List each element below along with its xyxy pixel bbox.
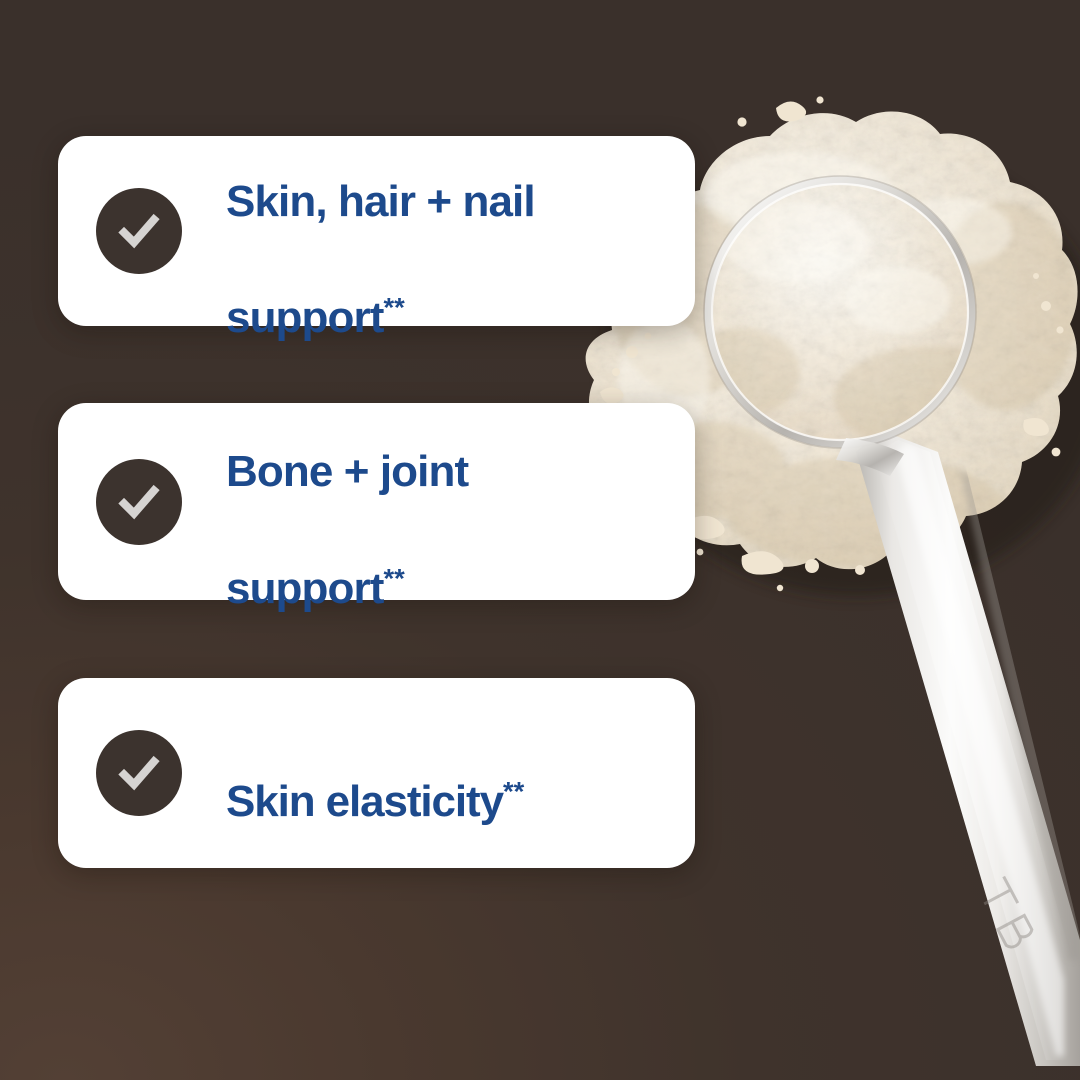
check-icon [96, 730, 182, 816]
check-icon [96, 188, 182, 274]
benefit-label: Bone + joint support** [226, 385, 468, 617]
scoop-handle [856, 430, 1080, 1066]
benefit-footnote-marker: ** [503, 775, 524, 806]
benefit-line-1: Skin elasticity [226, 777, 503, 826]
benefit-card-skin-elasticity: Skin elasticity** [58, 678, 695, 868]
check-badge [96, 459, 182, 545]
benefit-line-1: Bone + joint [226, 447, 468, 496]
benefit-line-2: support [226, 564, 383, 613]
scoop-bowl [684, 170, 1026, 476]
benefit-line-2: support [226, 293, 383, 342]
benefit-line-1: Skin, hair + nail [226, 177, 535, 226]
benefit-footnote-marker: ** [383, 562, 404, 593]
check-icon [96, 459, 182, 545]
benefit-card-skin-hair-nail: Skin, hair + nail support** [58, 136, 695, 326]
benefit-label: Skin, hair + nail support** [226, 115, 535, 347]
benefit-card-bone-joint: Bone + joint support** [58, 403, 695, 600]
poster-canvas: Skin, hair + nail support** Bone + joint… [0, 0, 1080, 1080]
check-badge [96, 188, 182, 274]
benefit-label: Skin elasticity** [226, 715, 524, 831]
handle-engraving [977, 877, 1035, 950]
check-badge [96, 730, 182, 816]
benefit-footnote-marker: ** [383, 291, 404, 322]
